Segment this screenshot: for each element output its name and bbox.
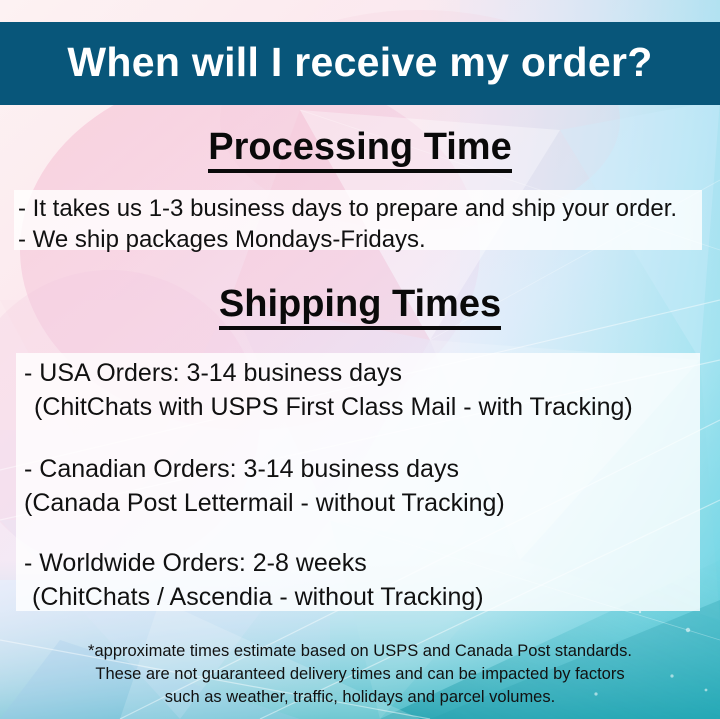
section-heading-shipping-times: Shipping Times [0, 285, 720, 330]
shipping-group-canada-title: - Canadian Orders: 3-14 business days [24, 452, 700, 486]
footer-disclaimer-line: such as weather, traffic, holidays and p… [0, 686, 720, 709]
processing-time-item: - We ship packages Mondays-Fridays. [18, 224, 708, 255]
shipping-group-usa: - USA Orders: 3-14 business days (ChitCh… [24, 356, 700, 424]
shipping-group-canada: - Canadian Orders: 3-14 business days (C… [24, 452, 700, 520]
processing-time-list: - It takes us 1-3 business days to prepa… [18, 193, 708, 255]
footer-disclaimer-line: *approximate times estimate based on USP… [0, 640, 720, 663]
shipping-group-canada-detail: (Canada Post Lettermail - without Tracki… [24, 486, 700, 520]
footer-disclaimer-line: These are not guaranteed delivery times … [0, 663, 720, 686]
shipping-group-worldwide-title: - Worldwide Orders: 2-8 weeks [24, 546, 700, 580]
shipping-group-usa-title: - USA Orders: 3-14 business days [24, 356, 700, 390]
section-heading-processing-time-text: Processing Time [208, 128, 511, 173]
header-banner: When will I receive my order? [0, 22, 720, 105]
footer-disclaimer: *approximate times estimate based on USP… [0, 640, 720, 709]
section-heading-shipping-times-text: Shipping Times [219, 285, 501, 330]
shipping-group-usa-detail: (ChitChats with USPS First Class Mail - … [24, 390, 700, 424]
processing-time-item: - It takes us 1-3 business days to prepa… [18, 193, 708, 224]
shipping-group-worldwide: - Worldwide Orders: 2-8 weeks (ChitChats… [24, 546, 700, 614]
shipping-group-worldwide-detail: (ChitChats / Ascendia - without Tracking… [24, 580, 700, 614]
section-heading-processing-time: Processing Time [0, 128, 720, 173]
faq-shipping-infographic: When will I receive my order? Processing… [0, 0, 720, 719]
page-title: When will I receive my order? [67, 42, 652, 83]
